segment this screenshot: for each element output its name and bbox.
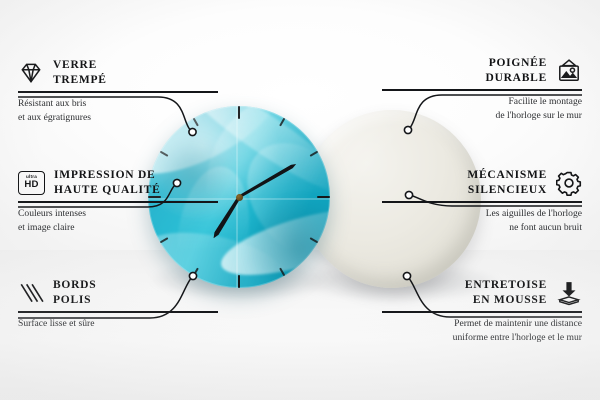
feature-title: MÉCANISME SILENCIEUX [467, 168, 547, 197]
feature-description: Couleurs intenses et image claire [18, 207, 218, 234]
feature-verre-trempe: VERRE TREMPÉ Résistant aux bris et aux é… [18, 58, 218, 124]
feature-title: VERRE TREMPÉ [53, 58, 107, 87]
feature-divider [382, 311, 582, 313]
feature-header: POIGNÉE DURABLE [382, 56, 582, 85]
diagonal-lines-icon [18, 280, 44, 306]
ultra-hd-icon: ultra HD [18, 171, 45, 195]
feature-divider [18, 201, 218, 203]
feature-title: IMPRESSION DE HAUTE QUALITÉ [54, 168, 161, 197]
feature-divider [18, 91, 218, 93]
feature-description: Les aiguilles de l'horloge ne font aucun… [382, 207, 582, 234]
feature-entretoise-en-mousse: ENTRETOISE EN MOUSSE Permet de maintenir… [382, 278, 582, 344]
feature-mecanisme-silencieux: MÉCANISME SILENCIEUX Les aiguilles de l'… [382, 168, 582, 234]
feature-divider [382, 201, 582, 203]
feature-description: Résistant aux bris et aux égratignures [18, 97, 218, 124]
feature-header: BORDS POLIS [18, 278, 218, 307]
feature-description: Facilite le montage de l'horloge sur le … [382, 95, 582, 122]
feature-title: POIGNÉE DURABLE [486, 56, 547, 85]
feature-divider [382, 89, 582, 91]
gear-icon [556, 170, 582, 196]
feature-bords-polis: BORDS POLIS Surface lisse et sûre [18, 278, 218, 331]
feature-header: VERRE TREMPÉ [18, 58, 218, 87]
feature-description: Surface lisse et sûre [18, 317, 218, 331]
feature-poignee-durable: POIGNÉE DURABLE Facilite le montage de l… [382, 56, 582, 122]
feature-header: ultra HD IMPRESSION DE HAUTE QUALITÉ [18, 168, 218, 197]
picture-frame-hanger-icon [556, 58, 582, 84]
feature-description: Permet de maintenir une distance uniform… [382, 317, 582, 344]
feature-impression-haute-qualite: ultra HD IMPRESSION DE HAUTE QUALITÉ Cou… [18, 168, 218, 234]
diamond-icon [18, 60, 44, 86]
feature-title: ENTRETOISE EN MOUSSE [465, 278, 547, 307]
feature-title: BORDS POLIS [53, 278, 96, 307]
feature-header: MÉCANISME SILENCIEUX [382, 168, 582, 197]
ultra-hd-large-label: HD [24, 180, 38, 190]
feature-header: ENTRETOISE EN MOUSSE [382, 278, 582, 307]
arrow-onto-pad-icon [556, 280, 582, 306]
feature-divider [18, 311, 218, 313]
